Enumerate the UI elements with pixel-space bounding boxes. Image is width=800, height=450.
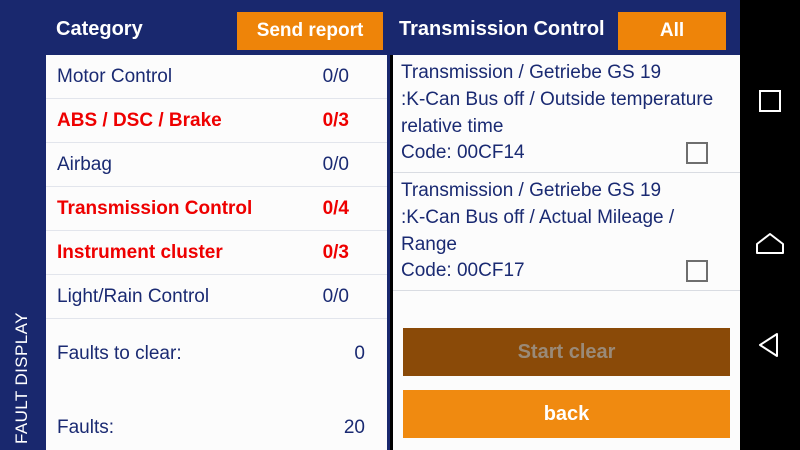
category-row[interactable]: ABS / DSC / Brake 0/3 (46, 99, 387, 143)
fault-select-checkbox[interactable] (686, 260, 708, 282)
summary-section: Faults to clear: 0 Faults: 20 (46, 322, 387, 450)
category-row[interactable]: Light/Rain Control 0/0 (46, 275, 387, 319)
category-row[interactable]: Transmission Control 0/4 (46, 187, 387, 231)
fault-item[interactable]: Transmission / Getriebe GS 19 :K-Can Bus… (393, 55, 740, 173)
fault-title: Transmission / Getriebe GS 19 (401, 59, 732, 86)
rail-label: FAULT DISPLAY (12, 0, 32, 444)
fault-select-checkbox[interactable] (686, 142, 708, 164)
category-header-title: Category (56, 18, 143, 41)
faults-total-row: Faults: 20 (46, 407, 387, 450)
fault-description: :K-Can Bus off / Actual Mileage / Range (401, 204, 732, 258)
category-count: 0/3 (323, 242, 349, 264)
category-list[interactable]: Motor Control 0/0 ABS / DSC / Brake 0/3 … (46, 55, 387, 322)
faults-to-clear-row: Faults to clear: 0 (46, 333, 387, 377)
category-name: Airbag (57, 154, 112, 176)
fault-code-row: Code: 00CF17 (401, 258, 732, 288)
faults-label: Faults: (57, 417, 114, 439)
android-nav-bar (740, 0, 800, 450)
category-count: 0/0 (323, 154, 349, 176)
fault-display-rail: FAULT DISPLAY (0, 0, 46, 450)
header-bar: Category Transmission Control Send repor… (46, 0, 740, 55)
category-row[interactable]: Motor Control 0/0 (46, 55, 387, 99)
fault-title: Transmission / Getriebe GS 19 (401, 177, 732, 204)
fault-detail-panel: Transmission / Getriebe GS 19 :K-Can Bus… (393, 55, 740, 450)
faults-to-clear-value: 0 (354, 343, 365, 365)
category-name: Light/Rain Control (57, 286, 209, 308)
category-name: Instrument cluster (57, 242, 223, 264)
category-name: Transmission Control (57, 198, 252, 220)
category-count: 0/0 (323, 286, 349, 308)
fault-code: Code: 00CF17 (401, 260, 525, 282)
category-count: 0/3 (323, 110, 349, 132)
category-row[interactable]: Instrument cluster 0/3 (46, 231, 387, 275)
category-row[interactable]: Airbag 0/0 (46, 143, 387, 187)
back-triangle-icon[interactable] (740, 315, 800, 375)
action-buttons: Start clear back (393, 328, 740, 450)
category-panel: Motor Control 0/0 ABS / DSC / Brake 0/3 … (46, 55, 390, 450)
fault-code-row: Code: 00CF14 (401, 140, 732, 170)
fault-code: Code: 00CF14 (401, 142, 525, 164)
fault-description: :K-Can Bus off / Outside temperature rel… (401, 86, 732, 140)
category-count: 0/4 (323, 198, 349, 220)
all-filter-button[interactable]: All (618, 12, 726, 50)
screen-root: FAULT DISPLAY Category Transmission Cont… (0, 0, 800, 450)
faults-to-clear-label: Faults to clear: (57, 343, 182, 365)
category-name: ABS / DSC / Brake (57, 110, 222, 132)
start-clear-button[interactable]: Start clear (403, 328, 730, 376)
send-report-button[interactable]: Send report (237, 12, 383, 50)
home-icon[interactable] (740, 215, 800, 275)
category-name: Motor Control (57, 66, 172, 88)
category-count: 0/0 (323, 66, 349, 88)
fault-item[interactable]: Transmission / Getriebe GS 19 :K-Can Bus… (393, 173, 740, 291)
selected-category-title: Transmission Control (399, 18, 605, 41)
faults-value: 20 (344, 417, 365, 439)
back-button[interactable]: back (403, 390, 730, 438)
recents-square-icon[interactable] (740, 72, 800, 132)
